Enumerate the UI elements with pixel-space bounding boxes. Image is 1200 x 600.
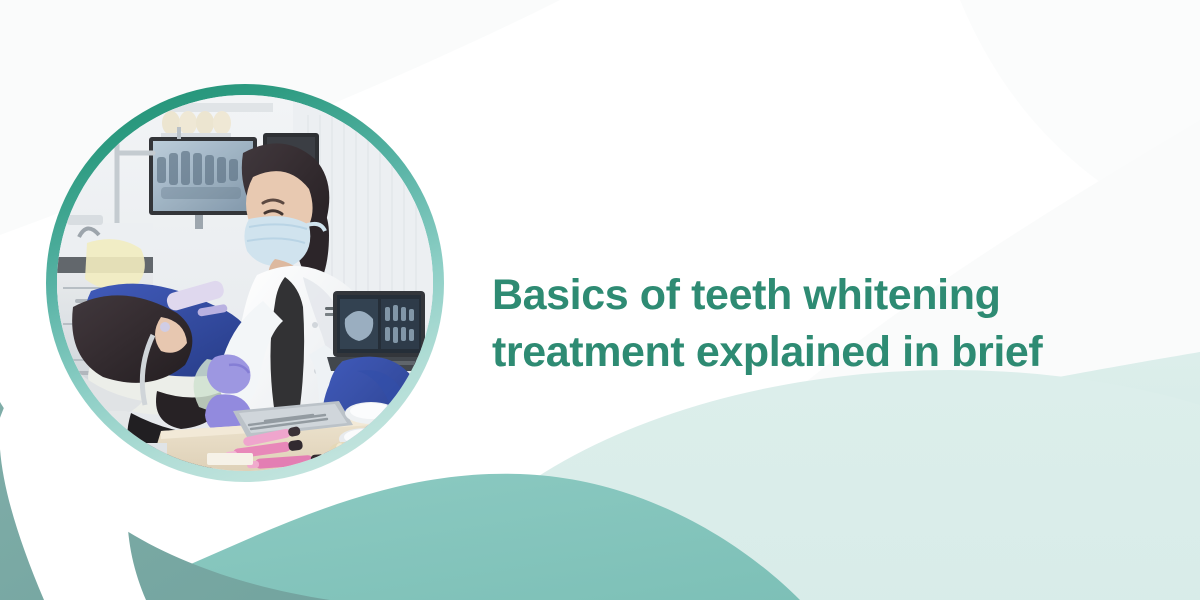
photo-ring: [46, 84, 444, 482]
blog-header-banner: Basics of teeth whitening treatment expl…: [0, 0, 1200, 600]
dental-clinic-photo: [57, 95, 433, 471]
page-title: Basics of teeth whitening treatment expl…: [492, 267, 1152, 381]
dental-clinic-illustration: [57, 95, 433, 471]
